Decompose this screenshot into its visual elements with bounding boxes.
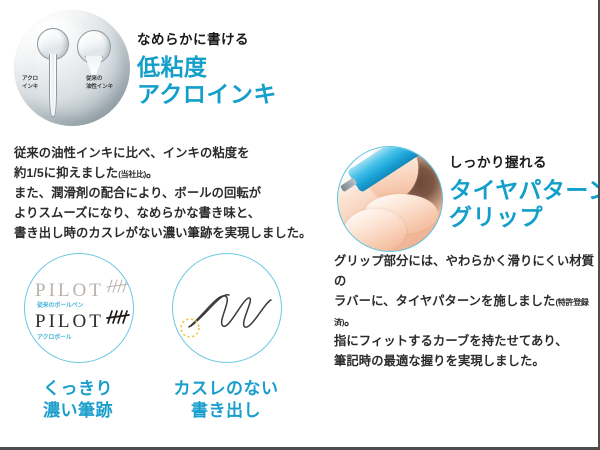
cursive-stroke-icon: [173, 254, 281, 362]
middle-finger-shape: [344, 209, 406, 252]
ink-description-line-5: 書き出し時のカスレがない濃い筆跡を実現しました。: [14, 224, 320, 244]
writing-sample-circle-startup: [172, 253, 282, 363]
caption-no-skip-start: カスレのない 書き出し: [168, 378, 284, 422]
caption-noskip-line2: 書き出し: [168, 400, 284, 422]
sample-conventional-writing: PILOT: [35, 278, 132, 302]
conventional-ink-drop-label: 従来の 油性インキ: [86, 76, 113, 91]
grip-headline-line2: グリップ: [449, 204, 600, 231]
sample-conventional-text: PILOT: [35, 280, 104, 301]
caption-crisp-line1: くっきり: [28, 378, 128, 400]
ink-description-line-2-main: 約1/5に抑えました: [14, 166, 118, 180]
sample-acroball-text: PILOT: [35, 311, 104, 332]
ink-eyebrow: なめらかに書ける: [137, 32, 277, 48]
ink-heading-block: なめらかに書ける 低粘度 アクロインキ: [137, 32, 277, 108]
sample-acroball-caption: アクロボール: [37, 332, 72, 341]
ink-description: 従来の油性インキに比べ、インキの粘度を 約1/5に抑えました(当社比)。 また、…: [14, 144, 320, 244]
sphere-background: [14, 10, 130, 126]
grip-photo: [337, 146, 443, 252]
start-point-highlight-icon: [181, 319, 199, 337]
ink-description-line-1: 従来の油性インキに比べ、インキの粘度を: [14, 144, 320, 164]
ink-description-line-4: よりスムーズになり、なめらかな書き味と、: [14, 204, 320, 224]
grip-description-line-2-main: ラバーに、タイヤパターンを施しました: [334, 294, 555, 308]
acro-ink-drop-tail: [49, 54, 57, 117]
sample-acroball-writing: PILOT: [35, 309, 132, 333]
caption-crisp-dark-strokes: くっきり 濃い筆跡: [28, 378, 128, 422]
grip-description-line-4: 筆記時の最適な握りを実現しました。: [334, 352, 596, 372]
ink-description-line-3: また、潤滑剤の配合により、ボールの回転が: [14, 184, 320, 204]
grip-eyebrow: しっかり握れる: [449, 155, 600, 171]
grip-description-line-3: 指にフィットするカーブを持たせてあり、: [334, 332, 596, 352]
grip-description-line-1: グリップ部分には、やわらかく滑りにくい材質の: [334, 252, 596, 292]
grip-description-line-2-end: 。: [344, 314, 356, 328]
ink-description-note: (当社比): [118, 170, 146, 179]
sample-acroball-scribble-icon: [106, 309, 132, 331]
grip-description: グリップ部分には、やわらかく滑りにくい材質の ラバーに、タイヤパターンを施しまし…: [334, 252, 596, 371]
ink-description-line-2-end: 。: [146, 166, 158, 180]
ink-headline-line2: アクロインキ: [137, 81, 277, 108]
ink-description-line-2: 約1/5に抑えました(当社比)。: [14, 164, 320, 184]
ink-viscosity-illustration: アクロ インキ 従来の 油性インキ: [14, 10, 132, 130]
grip-headline-line1: タイヤパターン: [449, 177, 600, 204]
sample-conventional-scribble-icon: [106, 278, 132, 300]
acro-ink-drop-label: アクロ インキ: [22, 76, 38, 91]
grip-heading-block: しっかり握れる タイヤパターン グリップ: [449, 155, 600, 231]
caption-noskip-line1: カスレのない: [168, 378, 284, 400]
caption-crisp-line2: 濃い筆跡: [28, 400, 128, 422]
ink-headline-line1: 低粘度: [137, 54, 277, 81]
writing-sample-circle-darkness: PILOT 従来のボールペン PILOT アクロボール: [24, 253, 134, 363]
sample-conventional-caption: 従来のボールペン: [37, 300, 83, 309]
product-feature-page: アクロ インキ 従来の 油性インキ なめらかに書ける 低粘度 アクロインキ 従来…: [0, 0, 600, 450]
grip-description-line-2: ラバーに、タイヤパターンを施しました(特許登録済)。: [334, 292, 596, 332]
